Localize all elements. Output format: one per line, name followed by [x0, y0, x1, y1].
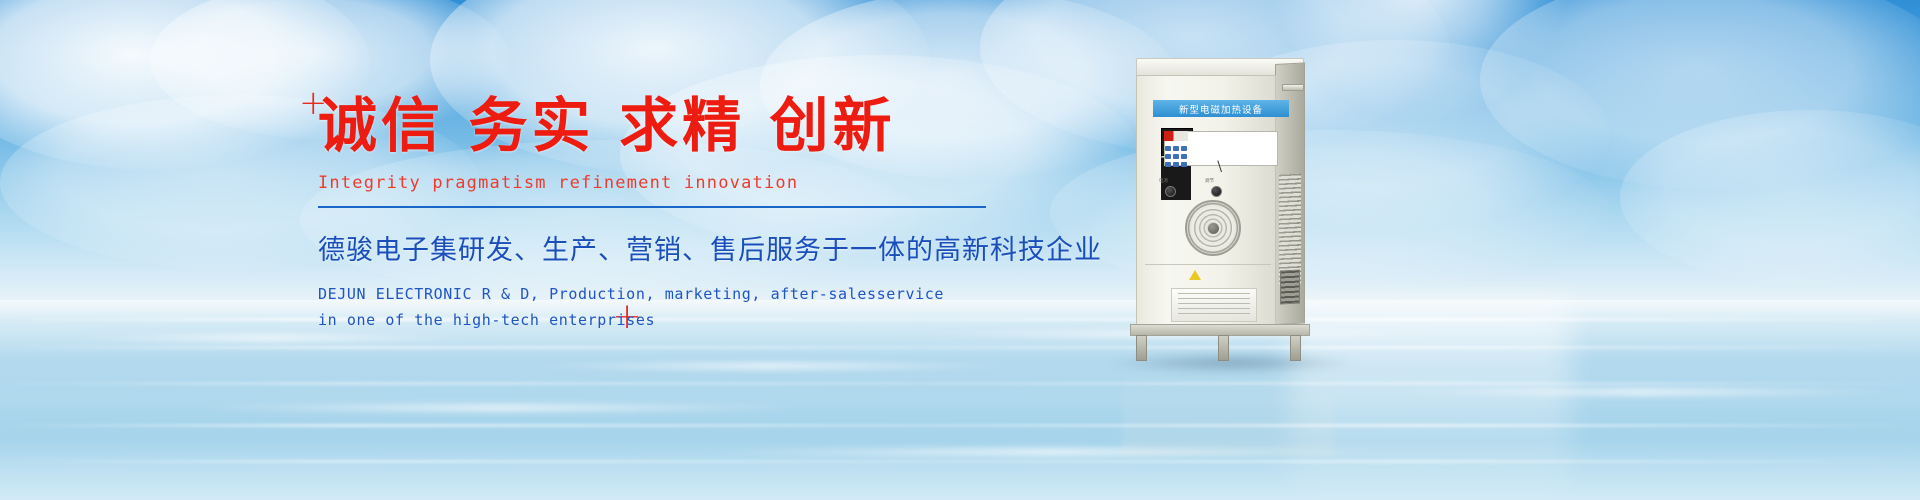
power-knob: [1165, 186, 1176, 197]
water-ripple: [0, 382, 1920, 385]
keypad-row: [1165, 162, 1187, 167]
panel-seam: [1145, 264, 1271, 265]
water-streak: [180, 404, 820, 412]
cloud-decoration: [1480, 0, 1920, 190]
water-ripple: [0, 424, 1920, 427]
headline-english: Integrity pragmatism refinement innovati…: [318, 173, 1018, 193]
machine-side-handle: [1282, 84, 1304, 91]
warning-triangle-icon: [1189, 270, 1201, 280]
promotional-banner: + + 诚信 务实 求精 创新 Integrity pragmatism ref…: [0, 0, 1920, 500]
headline-chinese: 诚信 务实 求精 创新: [318, 96, 1018, 155]
water-ripple: [0, 346, 1920, 349]
water-ripple: [0, 460, 1920, 463]
product-image-heating-machine: 新型电磁加热设备 0888 0250 电源 调节: [1122, 58, 1334, 358]
cooling-fan-grille: [1185, 200, 1241, 256]
keypad-row: [1165, 154, 1187, 159]
knob-label-power: 电源: [1159, 178, 1168, 184]
cloud-decoration: [1620, 110, 1920, 285]
machine-leg: [1136, 335, 1147, 361]
keypad-display: [1164, 131, 1188, 141]
specification-plate: [1171, 288, 1257, 322]
water-streak: [520, 362, 1020, 370]
water-streak: [60, 334, 480, 342]
subheadline-chinese: 德骏电子集研发、生产、营销、售后服务于一体的高新科技企业: [318, 228, 1018, 267]
subheadline-english: DEJUN ELECTRONIC R & D, Production, mark…: [318, 281, 958, 333]
keypad-row: [1165, 146, 1187, 151]
machine-reflection: [1122, 360, 1334, 455]
machine-control-panel: 0888 0250: [1161, 128, 1281, 174]
adjust-knob: [1211, 186, 1222, 197]
machine-leg: [1218, 335, 1229, 361]
knob-label-adjust: 调节: [1205, 178, 1214, 184]
machine-front-panel: 新型电磁加热设备 0888 0250 电源 调节: [1136, 75, 1276, 325]
machine-brand-label: 新型电磁加热设备: [1153, 100, 1289, 117]
horizontal-divider: [318, 206, 986, 208]
machine-lower-vent: [1280, 269, 1300, 304]
banner-text-block: 诚信 务实 求精 创新 Integrity pragmatism refinem…: [318, 96, 1018, 333]
machine-leg: [1290, 335, 1301, 361]
machine-vent-grille: [1279, 174, 1301, 285]
